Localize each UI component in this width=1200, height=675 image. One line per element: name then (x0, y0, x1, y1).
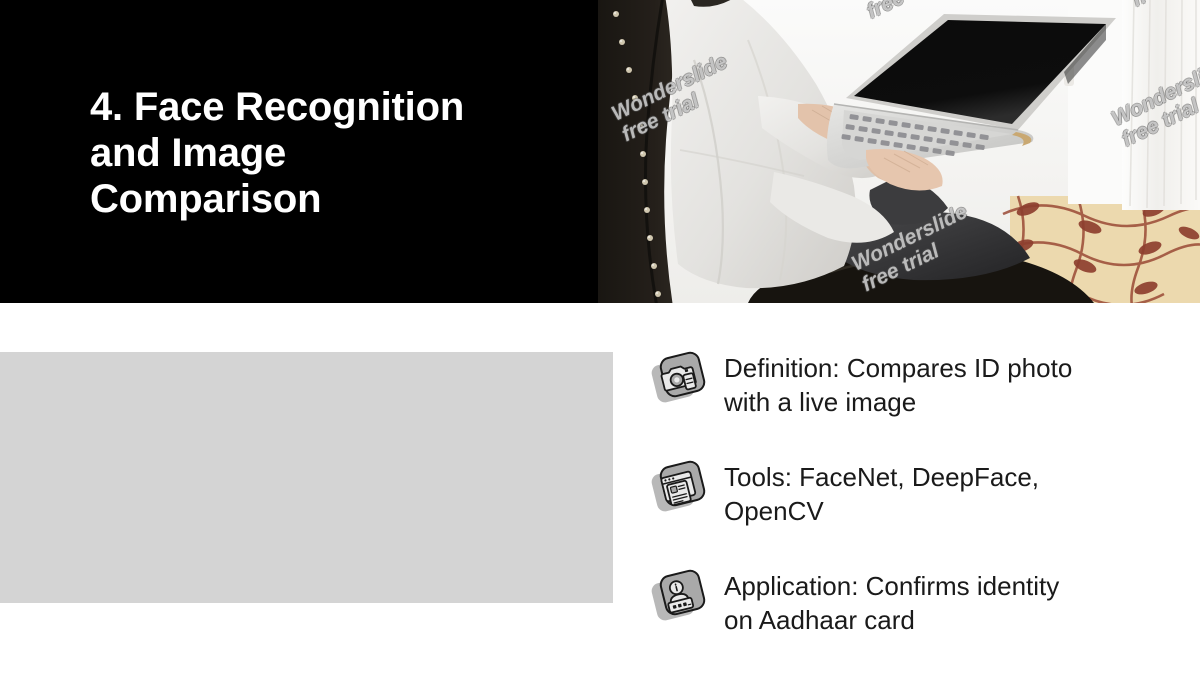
slide-canvas: 4. Face Recognition and Image Comparison (0, 0, 1200, 675)
list-item-text: Tools: FaceNet, DeepFace, OpenCV (724, 457, 1170, 528)
list-item: Definition: Compares ID photo with a liv… (650, 348, 1170, 419)
id-card-icon (650, 568, 706, 624)
hero-photo-illustration (598, 0, 1200, 303)
hero-photo: Wonderslide free trial Wonderslide free … (598, 0, 1200, 303)
slide-title: 4. Face Recognition and Image Comparison (90, 84, 560, 222)
list-item-text: Definition: Compares ID photo with a liv… (724, 348, 1170, 419)
title-panel: 4. Face Recognition and Image Comparison (0, 0, 600, 303)
list-item: Tools: FaceNet, DeepFace, OpenCV (650, 457, 1170, 528)
list-item-text: Application: Confirms identity on Aadhaa… (724, 566, 1170, 637)
list-item: Application: Confirms identity on Aadhaa… (650, 566, 1170, 637)
bullet-list: Definition: Compares ID photo with a liv… (650, 348, 1170, 637)
image-placeholder-block (0, 352, 613, 603)
document-window-icon (650, 459, 706, 515)
camera-icon (650, 350, 706, 406)
